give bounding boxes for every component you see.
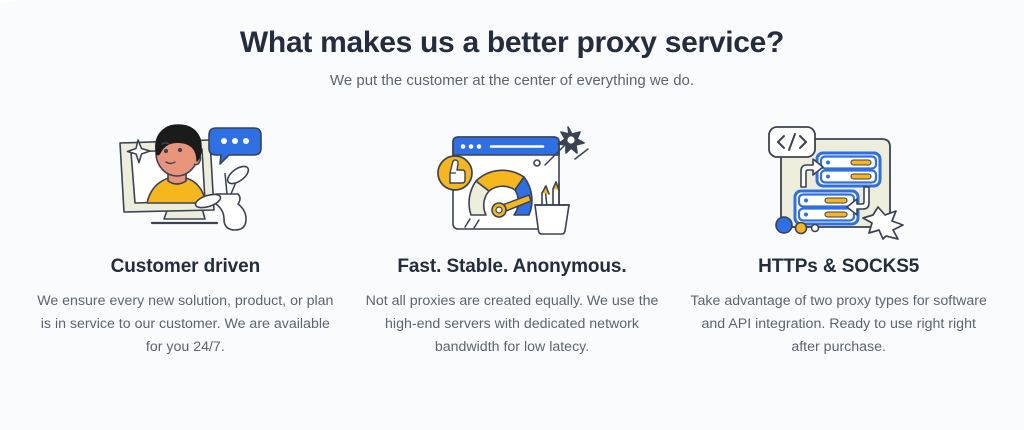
speedometer-browser-illustration [425, 115, 600, 240]
node-white-dot [812, 224, 819, 231]
features-section: What makes us a better proxy service? We… [0, 0, 1024, 430]
feature-card-list: Customer driven We ensure every new solu… [0, 115, 1024, 359]
feature-card-https-socks5: HTTPs & SOCKS5 Take advantage of two pro… [675, 115, 1002, 359]
feature-card-title: Fast. Stable. Anonymous. [397, 256, 626, 278]
feature-card-text: Take advantage of two proxy types for so… [689, 290, 989, 359]
features-content: What makes us a better proxy service? We… [0, 0, 1024, 359]
code-tag-icon [769, 127, 815, 157]
server-rack-upper [817, 153, 880, 186]
feature-card-title: HTTPs & SOCKS5 [758, 256, 919, 278]
feature-card-fast-stable-anonymous: Fast. Stable. Anonymous. Not all proxies… [349, 115, 676, 359]
node-blue-dot [776, 217, 792, 233]
customer-monitor-illustration [98, 115, 273, 240]
feature-card-text: We ensure every new solution, product, o… [35, 290, 335, 359]
page-subtitle: We put the customer at the center of eve… [0, 72, 1024, 89]
feature-card-text: Not all proxies are created equally. We … [362, 290, 662, 359]
feature-card-customer-driven: Customer driven We ensure every new solu… [22, 115, 349, 359]
server-code-illustration [751, 115, 926, 240]
thumbs-up-icon [438, 156, 472, 190]
speech-bubble-icon [209, 128, 261, 164]
page-title: What makes us a better proxy service? [0, 24, 1024, 62]
feature-card-title: Customer driven [111, 256, 260, 278]
node-yellow-dot [796, 222, 807, 233]
